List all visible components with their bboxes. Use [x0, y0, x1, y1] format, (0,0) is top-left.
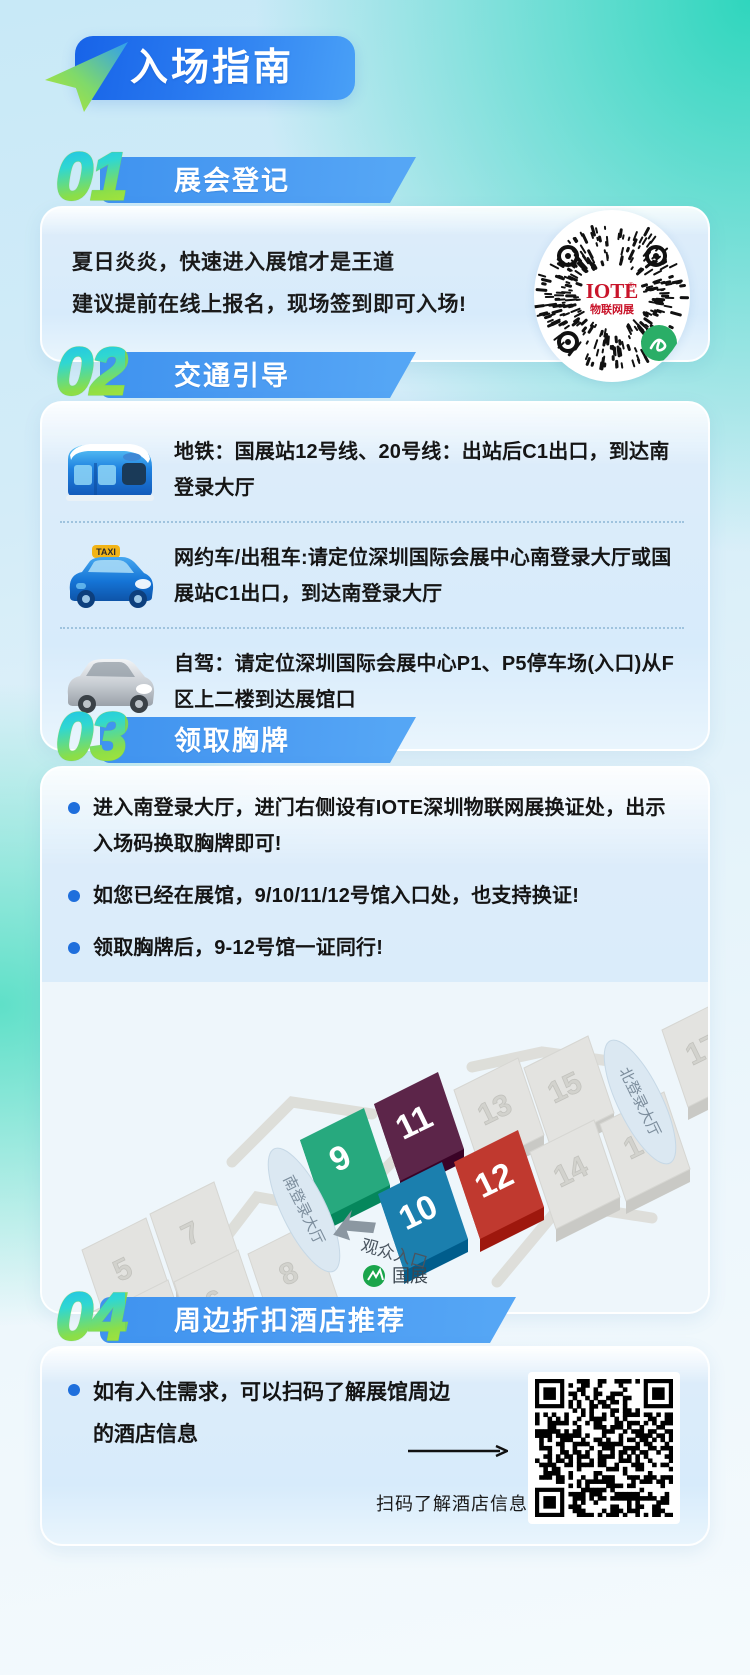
- hotel-qr-code[interactable]: [528, 1372, 680, 1524]
- list-item: 领取胸牌后，9-12号馆一证同行!: [68, 930, 682, 966]
- section-01-heading: 展会登记: [174, 164, 290, 198]
- section-02: 02 02 交通引导: [0, 345, 750, 751]
- section-01: 01 01 展会登记 夏日炎炎，快速进入展馆才是王道 建议提前在线上报名，现场签…: [0, 150, 750, 362]
- list-item: 进入南登录大厅，进门右侧设有IOTE深圳物联网展换证处，出示入场码换取胸牌即可!: [68, 790, 682, 862]
- cursor-arrow-icon: [40, 38, 132, 116]
- section-03: 03 03 领取胸牌 进入南登录大厅，进门右侧设有IOTE深圳物联网展换证处，出…: [0, 710, 750, 1314]
- section-02-banner: 02 02 交通引导: [56, 345, 750, 403]
- bullet-dot-icon: [68, 802, 80, 814]
- section-01-number: 01: [56, 140, 125, 212]
- scan-hint-label: 扫码了解酒店信息: [376, 1490, 528, 1516]
- transport-row-taxi: TAXI 网约车/出租车:请定位深圳国际会展中心南登录大厅或国展站C1出口，到达…: [60, 521, 684, 627]
- metro-station-label: 国展: [392, 1266, 428, 1286]
- transport-row-metro: 地铁：国展站12号线、20号线：出站后C1出口，到达南登录大厅: [60, 417, 684, 521]
- svg-text:®: ®: [628, 281, 634, 290]
- section-03-number: 03: [56, 700, 125, 772]
- section-03-banner: 03 03 领取胸牌: [56, 710, 750, 768]
- bullet-dot-icon: [68, 942, 80, 954]
- transport-card: 地铁：国展站12号线、20号线：出站后C1出口，到达南登录大厅 T: [40, 401, 710, 751]
- transport-text-metro: 地铁：国展站12号线、20号线：出站后C1出口，到达南登录大厅: [174, 434, 684, 506]
- transport-text-taxi: 网约车/出租车:请定位深圳国际会展中心南登录大厅或国展站C1出口，到达南登录大厅: [174, 540, 684, 612]
- section-02-heading: 交通引导: [174, 359, 290, 393]
- badge-bullet-1: 进入南登录大厅，进门右侧设有IOTE深圳物联网展换证处，出示入场码换取胸牌即可!: [93, 790, 682, 862]
- arrow-right-icon: [408, 1444, 508, 1458]
- svg-text:TAXI: TAXI: [96, 547, 116, 557]
- metro-train-icon: [60, 433, 160, 507]
- section-04-number: 04: [56, 1280, 125, 1352]
- section-04-heading: 周边折扣酒店推荐: [174, 1304, 406, 1338]
- bullet-dot-icon: [68, 890, 80, 902]
- guide-page: 入场指南 01 01 展会登记 夏日炎炎，快速进入展馆才是王道 建议提前在线上报…: [0, 0, 750, 1675]
- section-01-banner: 01 01 展会登记: [56, 150, 750, 208]
- section-03-heading: 领取胸牌: [174, 724, 290, 758]
- page-title: 入场指南: [130, 42, 294, 94]
- badge-bullet-3: 领取胸牌后，9-12号馆一证同行!: [93, 930, 383, 966]
- page-header: 入场指南: [0, 0, 750, 135]
- hotel-card: 如有入住需求，可以扫码了解展馆周边的酒店信息 扫码了解酒店信息: [40, 1346, 710, 1546]
- transport-text-car: 自驾：请定位深圳国际会展中心P1、P5停车场(入口)从F区上二楼到达展馆口: [174, 646, 684, 718]
- bullet-dot-icon: [68, 1384, 80, 1396]
- registration-card: 夏日炎炎，快速进入展馆才是王道 建议提前在线上报名，现场签到即可入场! IOTE…: [40, 206, 710, 362]
- badge-bullet-2: 如您已经在展馆，9/10/11/12号馆入口处，也支持换证!: [93, 878, 579, 914]
- taxi-car-icon: TAXI: [60, 539, 160, 613]
- section-04: 04 04 周边折扣酒店推荐 如有入住需求，可以扫码了解展馆周边的酒店信息 扫码…: [0, 1290, 750, 1546]
- badge-pickup-card: 进入南登录大厅，进门右侧设有IOTE深圳物联网展换证处，出示入场码换取胸牌即可!…: [40, 766, 710, 1314]
- list-item: 如您已经在展馆，9/10/11/12号馆入口处，也支持换证!: [68, 878, 682, 914]
- iote-logo-subtext: 物联网展: [590, 302, 635, 316]
- venue-map: 57911131517246810121416 南登录大厅北登录大厅 观众入口 …: [42, 982, 708, 1312]
- section-04-banner: 04 04 周边折扣酒店推荐: [56, 1290, 750, 1348]
- section-02-number: 02: [56, 335, 125, 407]
